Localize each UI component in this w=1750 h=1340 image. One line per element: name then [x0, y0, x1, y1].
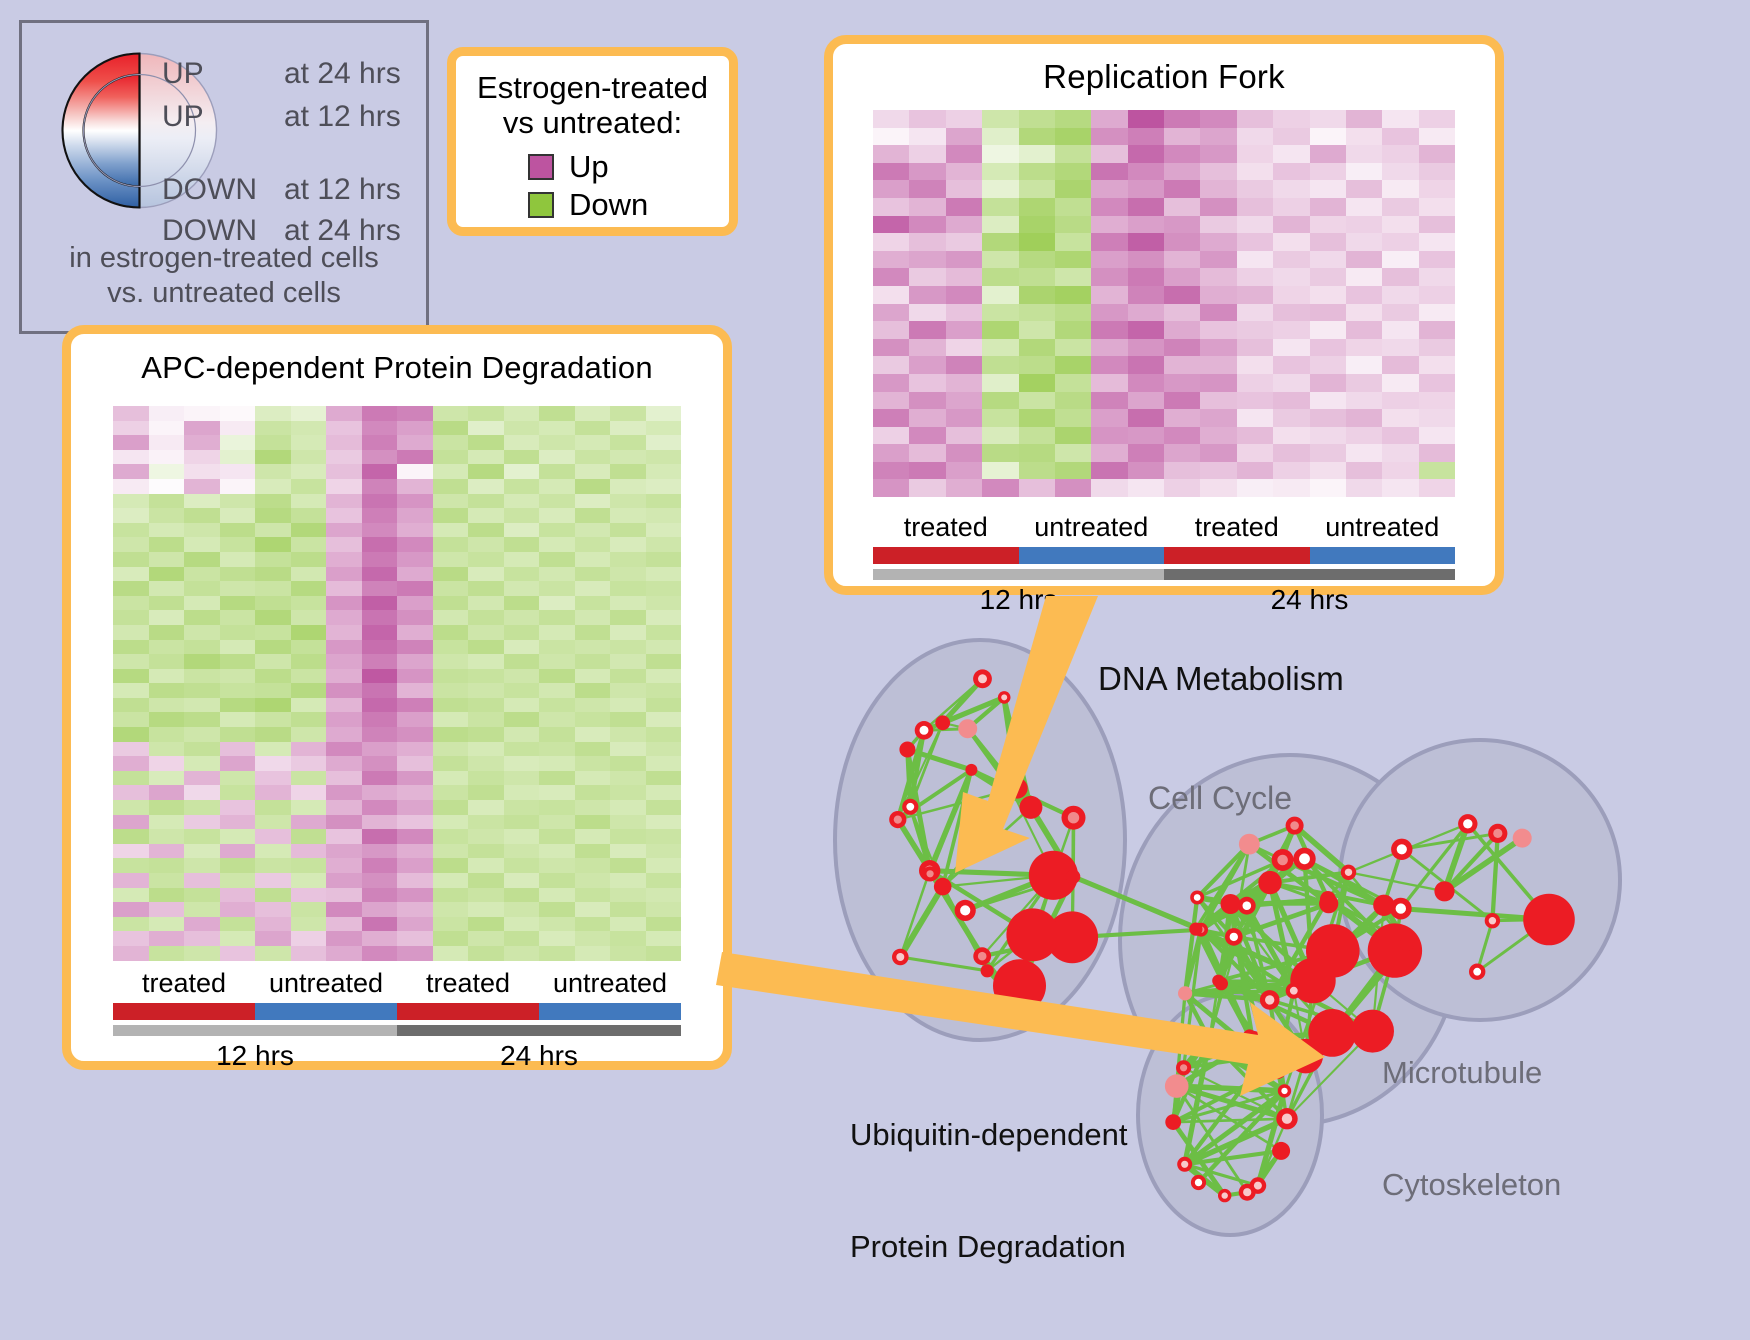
heatmap-cell	[184, 581, 220, 596]
heatmap-cell	[610, 523, 646, 538]
heatmap-cell	[184, 756, 220, 771]
heatmap-cell	[646, 523, 682, 538]
heatmap-cell	[397, 800, 433, 815]
heatmap-cell	[575, 844, 611, 859]
heatmap-cell	[909, 163, 945, 181]
heatmap-cell	[255, 931, 291, 946]
heatmap-cell	[468, 683, 504, 698]
network-node[interactable]	[935, 715, 950, 730]
heatmap-cell	[1382, 304, 1418, 322]
heatmap-cell	[149, 785, 185, 800]
heatmap-cell	[326, 712, 362, 727]
heatmap-cell	[1164, 392, 1200, 410]
heatmap-cell	[184, 654, 220, 669]
heatmap-cell	[982, 409, 1018, 427]
heatmap-cell	[1128, 356, 1164, 374]
network-node[interactable]	[1239, 834, 1260, 855]
heatmap-cell	[291, 450, 327, 465]
heatmap-cell	[362, 552, 398, 567]
heatmap-cell	[946, 110, 982, 128]
heatmap-cell	[1091, 216, 1127, 234]
heatmap-cell	[326, 596, 362, 611]
heatmap-cell	[1310, 409, 1346, 427]
heatmap-cell	[946, 462, 982, 480]
legend-key: DOWN	[162, 175, 284, 205]
heatmap-cell	[504, 917, 540, 932]
heatmap-cell	[433, 610, 469, 625]
heatmap-cell	[326, 683, 362, 698]
heatmap-cell	[220, 450, 256, 465]
heatmap-cell	[873, 216, 909, 234]
heatmap-cell	[1237, 268, 1273, 286]
bar-treated-24	[1164, 547, 1310, 564]
heatmap-cell	[184, 494, 220, 509]
heatmap-cell	[873, 268, 909, 286]
time-color-bar-apc	[113, 1025, 681, 1036]
heatmap-cell	[575, 406, 611, 421]
heatmap-cell	[149, 712, 185, 727]
heatmap-cell	[1346, 409, 1382, 427]
heatmap-cell	[184, 800, 220, 815]
heatmap-cell	[433, 464, 469, 479]
heatmap-cell	[1091, 374, 1127, 392]
heatmap-cell	[397, 406, 433, 421]
network-node[interactable]	[934, 878, 952, 896]
heatmap-cell	[1346, 286, 1382, 304]
heatmap-cell	[362, 537, 398, 552]
heatmap-cell	[220, 435, 256, 450]
heatmap-cell	[468, 785, 504, 800]
heatmap-cell	[255, 800, 291, 815]
heatmap-cell	[575, 581, 611, 596]
heatmap-cell	[982, 145, 1018, 163]
network-node[interactable]	[1319, 894, 1338, 913]
heatmap-cell	[184, 902, 220, 917]
heatmap-cell	[220, 946, 256, 961]
heatmap-cell	[326, 421, 362, 436]
heatmap-cell	[982, 374, 1018, 392]
heatmap-cell	[433, 421, 469, 436]
network-node[interactable]	[1006, 908, 1059, 961]
heatmap-cell	[539, 785, 575, 800]
heatmap-cell	[113, 596, 149, 611]
heatmap-cell	[397, 902, 433, 917]
network-node[interactable]	[1165, 1114, 1181, 1130]
network-node[interactable]	[1368, 923, 1422, 977]
heatmap-cell	[362, 508, 398, 523]
heatmap-cell	[255, 537, 291, 552]
heatmap-cell	[397, 450, 433, 465]
heatmap-cell	[326, 931, 362, 946]
group-label-untreated-12: untreated	[255, 968, 397, 999]
heatmap-cell	[149, 829, 185, 844]
heatmap-cell	[1419, 145, 1455, 163]
heatmap-cell	[1128, 251, 1164, 269]
heatmap-cell	[1346, 479, 1382, 497]
network-node[interactable]	[1351, 1010, 1394, 1053]
heatmap-cell	[397, 435, 433, 450]
heatmap-cell	[291, 494, 327, 509]
heatmap-cell	[1200, 479, 1236, 497]
bar-time-12	[873, 569, 1164, 580]
heatmap-cell	[646, 435, 682, 450]
heatmap-cell	[362, 683, 398, 698]
network-node-core	[1222, 1192, 1228, 1198]
heatmap-cell	[610, 625, 646, 640]
heatmap-cell	[610, 581, 646, 596]
heatmap-cell	[220, 858, 256, 873]
heatmap-cell	[873, 427, 909, 445]
network-node-core	[1299, 853, 1310, 864]
heatmap-cell	[220, 902, 256, 917]
heatmap-cell	[504, 931, 540, 946]
heatmap-cell	[575, 815, 611, 830]
heatmap-cell	[291, 698, 327, 713]
heatmap-cell	[1419, 479, 1455, 497]
heatmap-cell	[646, 537, 682, 552]
heatmap-cell	[397, 610, 433, 625]
expression-circle-legend: UP at 24 hrs UP at 12 hrs DOWN at 12 hrs…	[19, 20, 429, 334]
heatmap-cell	[433, 917, 469, 932]
heatmap-cell	[468, 610, 504, 625]
heatmap-cell	[1419, 392, 1455, 410]
heatmap-cell	[1055, 409, 1091, 427]
heatmap-cell	[873, 304, 909, 322]
heatmap-cell	[504, 888, 540, 903]
heatmap-cell	[1091, 233, 1127, 251]
heatmap-cell	[1310, 427, 1346, 445]
heatmap-cell	[504, 829, 540, 844]
heatmap-cell	[362, 596, 398, 611]
network-node-core	[1180, 1064, 1187, 1071]
network-node[interactable]	[1373, 895, 1394, 916]
heatmap-cell	[468, 596, 504, 611]
heatmap-cell	[610, 785, 646, 800]
network-node[interactable]	[981, 964, 994, 977]
heatmap-cell	[946, 251, 982, 269]
heatmap-cell	[362, 888, 398, 903]
heatmap-cell	[397, 640, 433, 655]
heatmap-cell	[1091, 268, 1127, 286]
network-node[interactable]	[1165, 1074, 1189, 1098]
heatmap-cell	[575, 800, 611, 815]
heatmap-cell	[539, 406, 575, 421]
heatmap-cell	[610, 537, 646, 552]
heatmap-cell	[1310, 321, 1346, 339]
heatmap-cell	[362, 494, 398, 509]
network-svg	[790, 610, 1750, 1279]
heatmap-cell	[575, 464, 611, 479]
heatmap-cell	[504, 494, 540, 509]
heatmap-cell	[468, 421, 504, 436]
heatmap-cell	[1200, 198, 1236, 216]
heatmap-cell	[255, 567, 291, 582]
heatmap-cell	[575, 421, 611, 436]
heatmap-cell	[326, 464, 362, 479]
heatmap-cell	[646, 931, 682, 946]
heatmap-cell	[291, 581, 327, 596]
heatmap-cell	[1128, 110, 1164, 128]
heatmap-cell	[468, 479, 504, 494]
heatmap-cell	[291, 815, 327, 830]
heatmap-cell	[1419, 409, 1455, 427]
time-label-24hrs: 24 hrs	[397, 1040, 681, 1072]
group-label-untreated-24: untreated	[539, 968, 681, 999]
network-node[interactable]	[899, 742, 915, 758]
network-node[interactable]	[958, 719, 977, 738]
heatmap-cell	[1382, 180, 1418, 198]
heatmap-cell	[1346, 444, 1382, 462]
heatmap-cell	[184, 946, 220, 961]
network-node[interactable]	[1221, 894, 1241, 914]
heatmap-cell	[113, 917, 149, 932]
heatmap-cell	[291, 902, 327, 917]
legend-row-down-12: DOWN at 12 hrs	[162, 175, 401, 205]
heatmap-cell	[397, 654, 433, 669]
heatmap-cell	[397, 858, 433, 873]
heatmap-cell	[255, 917, 291, 932]
down-color-swatch	[528, 192, 554, 218]
heatmap-cell	[504, 625, 540, 640]
heatmap-cell	[220, 785, 256, 800]
heatmap-cell	[1346, 268, 1382, 286]
network-node[interactable]	[1513, 829, 1532, 848]
heatmap-cell	[326, 450, 362, 465]
heatmap-cell	[1055, 251, 1091, 269]
heatmap-cell	[149, 567, 185, 582]
heatmap-cell	[397, 698, 433, 713]
heatmap-cell	[575, 742, 611, 757]
heatmap-cell	[291, 523, 327, 538]
heatmap-cell	[1346, 392, 1382, 410]
heatmap-cell	[1382, 251, 1418, 269]
heatmap-cell	[1273, 409, 1309, 427]
heatmap-cell	[184, 464, 220, 479]
heatmap-cell	[184, 931, 220, 946]
network-node[interactable]	[1400, 936, 1415, 951]
heatmap-cell	[909, 479, 945, 497]
network-node[interactable]	[1178, 986, 1192, 1000]
network-node[interactable]	[1066, 870, 1080, 884]
heatmap-cell	[149, 931, 185, 946]
network-node-core	[1281, 1088, 1287, 1094]
heatmap-cell	[113, 785, 149, 800]
heatmap-cell	[1019, 251, 1055, 269]
heatmap-cell	[1128, 216, 1164, 234]
heatmap-cell	[113, 640, 149, 655]
heatmap-cell	[149, 654, 185, 669]
network-node[interactable]	[1288, 1039, 1323, 1074]
heatmap-cell	[184, 771, 220, 786]
network-node[interactable]	[1523, 894, 1575, 946]
heatmap-cell	[575, 829, 611, 844]
network-node-core	[1248, 1036, 1258, 1046]
heatmap-cell	[362, 712, 398, 727]
heatmap-cell	[433, 654, 469, 669]
heatmap-cell	[982, 427, 1018, 445]
heatmap-cell	[504, 800, 540, 815]
heatmap-cell	[113, 406, 149, 421]
heatmap-cell	[646, 581, 682, 596]
heatmap-cell	[1091, 180, 1127, 198]
heatmap-cell	[1164, 198, 1200, 216]
heatmap-cell	[575, 654, 611, 669]
heatmap-cell	[1055, 233, 1091, 251]
heatmap-cell	[326, 581, 362, 596]
network-node[interactable]	[1434, 881, 1454, 901]
up-label: Up	[569, 149, 609, 185]
heatmap-cell	[220, 727, 256, 742]
heatmap-cell	[149, 844, 185, 859]
heatmap-cell	[468, 742, 504, 757]
heatmap-cell	[1091, 462, 1127, 480]
heatmap-cell	[646, 567, 682, 582]
heatmap-cell	[291, 858, 327, 873]
heatmap-cell	[539, 858, 575, 873]
heatmap-cell	[397, 683, 433, 698]
heatmap-cell	[873, 321, 909, 339]
heatmap-cell	[362, 946, 398, 961]
heatmap-cell	[1310, 163, 1346, 181]
heatmap-cell	[113, 888, 149, 903]
heatmap-cell	[646, 844, 682, 859]
heatmap-cell	[982, 163, 1018, 181]
network-node[interactable]	[1258, 871, 1281, 894]
network-node[interactable]	[965, 764, 977, 776]
heatmap-cell	[362, 435, 398, 450]
heatmap-cell	[291, 567, 327, 582]
heatmap-cell	[1273, 444, 1309, 462]
heatmap-cell	[1055, 110, 1091, 128]
heatmap-cell	[646, 406, 682, 421]
heatmap-cell	[184, 785, 220, 800]
heatmap-cell	[255, 508, 291, 523]
heatmap-cell	[539, 756, 575, 771]
heatmap-cell	[1310, 462, 1346, 480]
heatmap-cell	[255, 640, 291, 655]
heatmap-cell	[1200, 356, 1236, 374]
heatmap-cell	[220, 523, 256, 538]
heatmap-cell	[610, 829, 646, 844]
heatmap-cell	[946, 444, 982, 462]
heatmap-cell	[468, 406, 504, 421]
heatmap-cell	[362, 800, 398, 815]
heatmap-cell	[1091, 479, 1127, 497]
heatmap-cell	[113, 931, 149, 946]
heatmap-cell	[646, 654, 682, 669]
heatmap-cell	[397, 552, 433, 567]
heatmap-cell	[149, 800, 185, 815]
heatmap-cell	[291, 464, 327, 479]
heatmap-cell	[149, 596, 185, 611]
network-node[interactable]	[1189, 923, 1202, 936]
heatmap-cell	[468, 888, 504, 903]
heatmap-cell	[539, 610, 575, 625]
heatmap-cell	[468, 450, 504, 465]
heatmap-cell	[468, 902, 504, 917]
heatmap-cell	[1019, 479, 1055, 497]
bar-untreated-12	[255, 1003, 397, 1020]
heatmap-cell	[433, 596, 469, 611]
heatmap-cell	[1346, 462, 1382, 480]
heatmap-cell	[873, 286, 909, 304]
heatmap-cell	[291, 421, 327, 436]
heatmap-cell	[1200, 374, 1236, 392]
heatmap-cell	[433, 742, 469, 757]
network-node[interactable]	[1272, 1142, 1290, 1160]
heatmap-cell	[946, 339, 982, 357]
network-node[interactable]	[1215, 977, 1228, 990]
network-node[interactable]	[1019, 796, 1042, 819]
heatmap-cell	[575, 931, 611, 946]
heatmap-cell	[1128, 374, 1164, 392]
heatmap-cell	[946, 356, 982, 374]
heatmap-cell	[433, 844, 469, 859]
heatmap-cell	[873, 145, 909, 163]
heatmap-cell	[504, 756, 540, 771]
heatmap-cell	[646, 800, 682, 815]
heatmap-cell	[504, 552, 540, 567]
heatmap-cell	[1237, 180, 1273, 198]
circle-legend-footer: in estrogen-treated cells vs. untreated …	[22, 241, 426, 312]
heatmap-cell	[326, 435, 362, 450]
heatmap-cell	[575, 946, 611, 961]
heatmap-cell	[610, 596, 646, 611]
heatmap-cell	[946, 180, 982, 198]
heatmap-cell	[433, 537, 469, 552]
heatmap-cell	[468, 567, 504, 582]
heatmap-cell	[362, 917, 398, 932]
heatmap-cell	[1164, 321, 1200, 339]
heatmap-cell	[362, 581, 398, 596]
heatmap-cell	[1346, 198, 1382, 216]
network-node-core	[906, 803, 914, 811]
bar-untreated-24	[539, 1003, 681, 1020]
heatmap-cell	[646, 552, 682, 567]
heatmap-cell	[397, 785, 433, 800]
heatmap-cell	[291, 596, 327, 611]
heatmap-cell	[982, 321, 1018, 339]
heatmap-cell	[220, 625, 256, 640]
heatmap-cell	[1237, 409, 1273, 427]
heatmap-cell	[1055, 462, 1091, 480]
heatmap-cell	[539, 508, 575, 523]
heatmap-cell	[646, 917, 682, 932]
heatmap-cell	[504, 669, 540, 684]
heatmap-cell	[468, 435, 504, 450]
heatmap-cell	[504, 946, 540, 961]
heatmap-cell	[1346, 427, 1382, 445]
heatmap-cell	[220, 756, 256, 771]
heatmap-cell	[255, 771, 291, 786]
heatmap-cell	[1164, 216, 1200, 234]
heatmap-cell	[1419, 374, 1455, 392]
network-node[interactable]	[1007, 778, 1028, 799]
heatmap-cell	[362, 742, 398, 757]
heatmap-cell	[1200, 304, 1236, 322]
pathway-network-diagram	[790, 610, 1750, 1279]
heatmap-cell	[539, 844, 575, 859]
heatmap-cell	[220, 669, 256, 684]
heatmap-cell	[539, 537, 575, 552]
heatmap-cell	[539, 771, 575, 786]
heatmap-cell	[255, 435, 291, 450]
heatmap-cell	[909, 198, 945, 216]
heatmap-cell	[1055, 286, 1091, 304]
heatmap-cell	[291, 537, 327, 552]
heatmap-cell	[184, 858, 220, 873]
heatmap-cell	[909, 251, 945, 269]
